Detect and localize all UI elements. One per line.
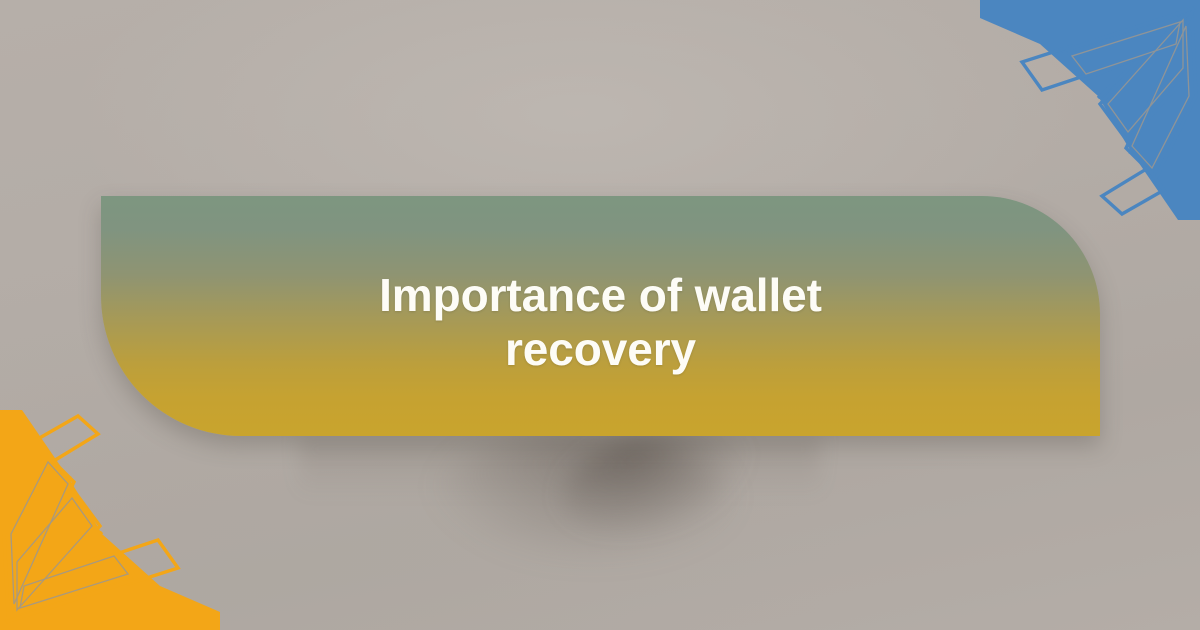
title-banner: Importance of wallet recovery <box>101 196 1100 436</box>
slide-canvas: Importance of wallet recovery <box>0 0 1200 630</box>
page-title: Importance of wallet recovery <box>321 268 881 376</box>
title-banner-content: Importance of wallet recovery <box>101 196 1100 436</box>
